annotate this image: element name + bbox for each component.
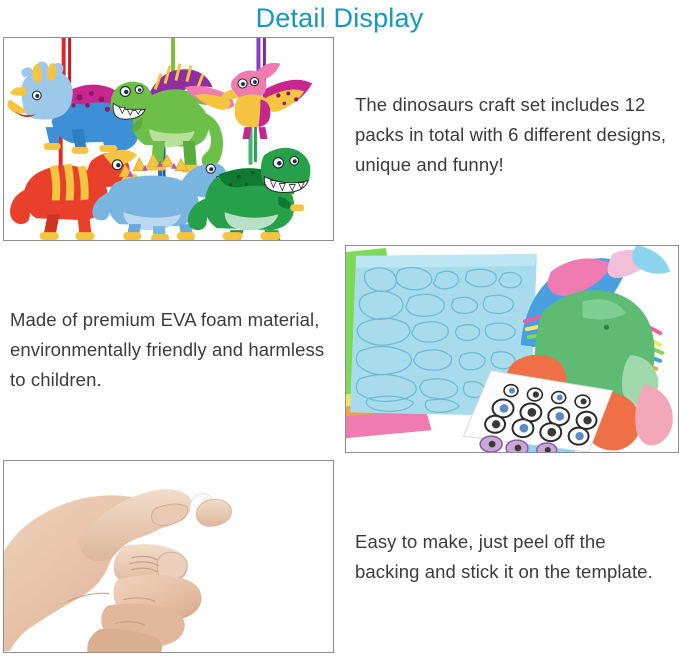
caption-material: Made of premium EVA foam material, envir… <box>10 305 340 395</box>
detail-display-page: Detail Display <box>0 0 679 663</box>
image-panel-foam-sheets <box>345 245 679 453</box>
image-panel-hand-peeling-sticker <box>3 460 334 653</box>
caption-product-contents: The dinosaurs craft set includes 12 pack… <box>355 90 677 180</box>
caption-ease-of-use: Easy to make, just peel off the backing … <box>355 527 675 587</box>
image-panel-dinosaur-ornaments <box>3 37 334 241</box>
page-title: Detail Display <box>0 0 679 36</box>
foam-sheets-illustration <box>346 246 678 452</box>
hand-illustration <box>4 461 333 652</box>
dinosaur-ornaments-illustration <box>4 38 333 240</box>
